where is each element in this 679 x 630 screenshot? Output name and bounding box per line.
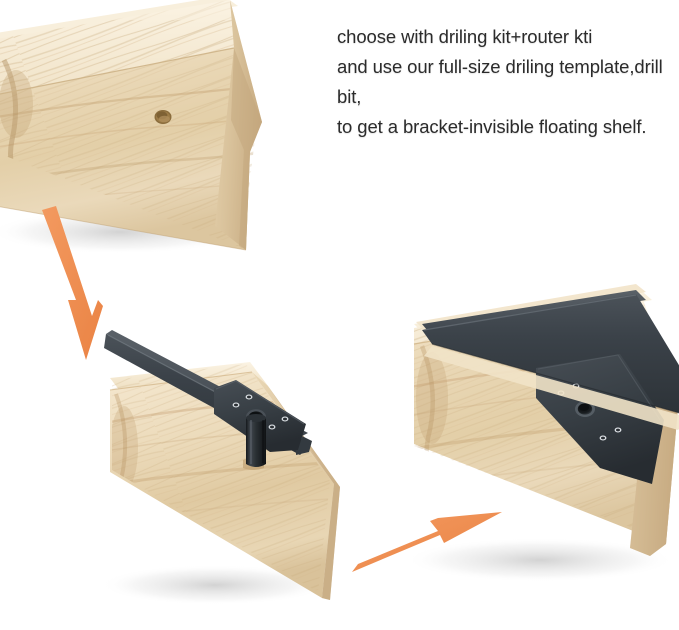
bracket-bar-recessed [422,290,679,484]
plank-2-end-grain [252,372,340,600]
plank-3-top-face [414,290,676,452]
plank-2-arris-top [110,372,252,390]
arrow-step1-to-step2 [42,206,103,360]
bracket-recessed-highlight [424,295,636,330]
plank-2-front-face [110,372,334,598]
instruction-text: choose with driling kit+router kti and u… [337,22,667,142]
plank-1-back-edge [0,0,238,44]
screw-holes [558,384,622,441]
mounting-rod [246,414,266,467]
plank-1-end-grain [215,0,262,250]
arrow-step2-to-step3 [352,512,502,572]
plank-3-front-grain [405,280,679,560]
infographic-canvas: choose with driling kit+router kti and u… [0,0,679,630]
bracket-recessed-body [422,294,679,416]
plank-3-end-grain-shade [630,408,678,556]
plank-1-end-grain-shade [231,48,262,250]
plank-1-front-face [0,48,250,250]
bracket-bar-tip [296,433,312,455]
bracket-recessed-top [422,290,646,336]
plank-3-top-grain [414,290,676,452]
plank-3-channel-lower-lip [424,346,679,430]
center-hole [575,401,595,417]
plank-3-back-edge [414,286,652,340]
plank-3-arris-top [414,306,642,344]
step-2-plank-group [100,330,360,610]
bracket-plate [214,380,306,452]
plank-2-front-grain [100,350,360,610]
step-1-plank-group [0,0,300,270]
plank-1-top-face [0,0,262,171]
bracket-recessed-bottom-arris [432,344,679,416]
plank-2-end-grain-shade [268,386,340,600]
bracket-bar [104,330,312,455]
drilled-hole [155,110,172,124]
shadow-plank-2 [100,565,330,605]
plank-3-front-face [414,306,678,544]
screw-holes [233,395,289,430]
plank-1-top-grain [0,0,262,171]
plank-2-top-face [110,362,268,404]
bracket-plate [536,354,664,484]
plank-3-channel-upper-lip [416,284,646,332]
plank-1-arris-top [0,48,234,96]
center-hole [246,409,266,425]
bracket-bar-body [104,334,306,455]
shadow-plank-1 [0,210,250,254]
bracket-bar-highlight [108,335,302,438]
plank-3-end-grain [630,306,678,556]
plank-2-routed-pocket [243,458,264,470]
plank-1-front-grain [0,20,300,270]
shadow-plank-3 [405,538,675,582]
bracket-bar-top-edge [106,330,308,437]
plank-1-arris-bottom [0,205,246,250]
step-3-plank-group [405,280,679,560]
